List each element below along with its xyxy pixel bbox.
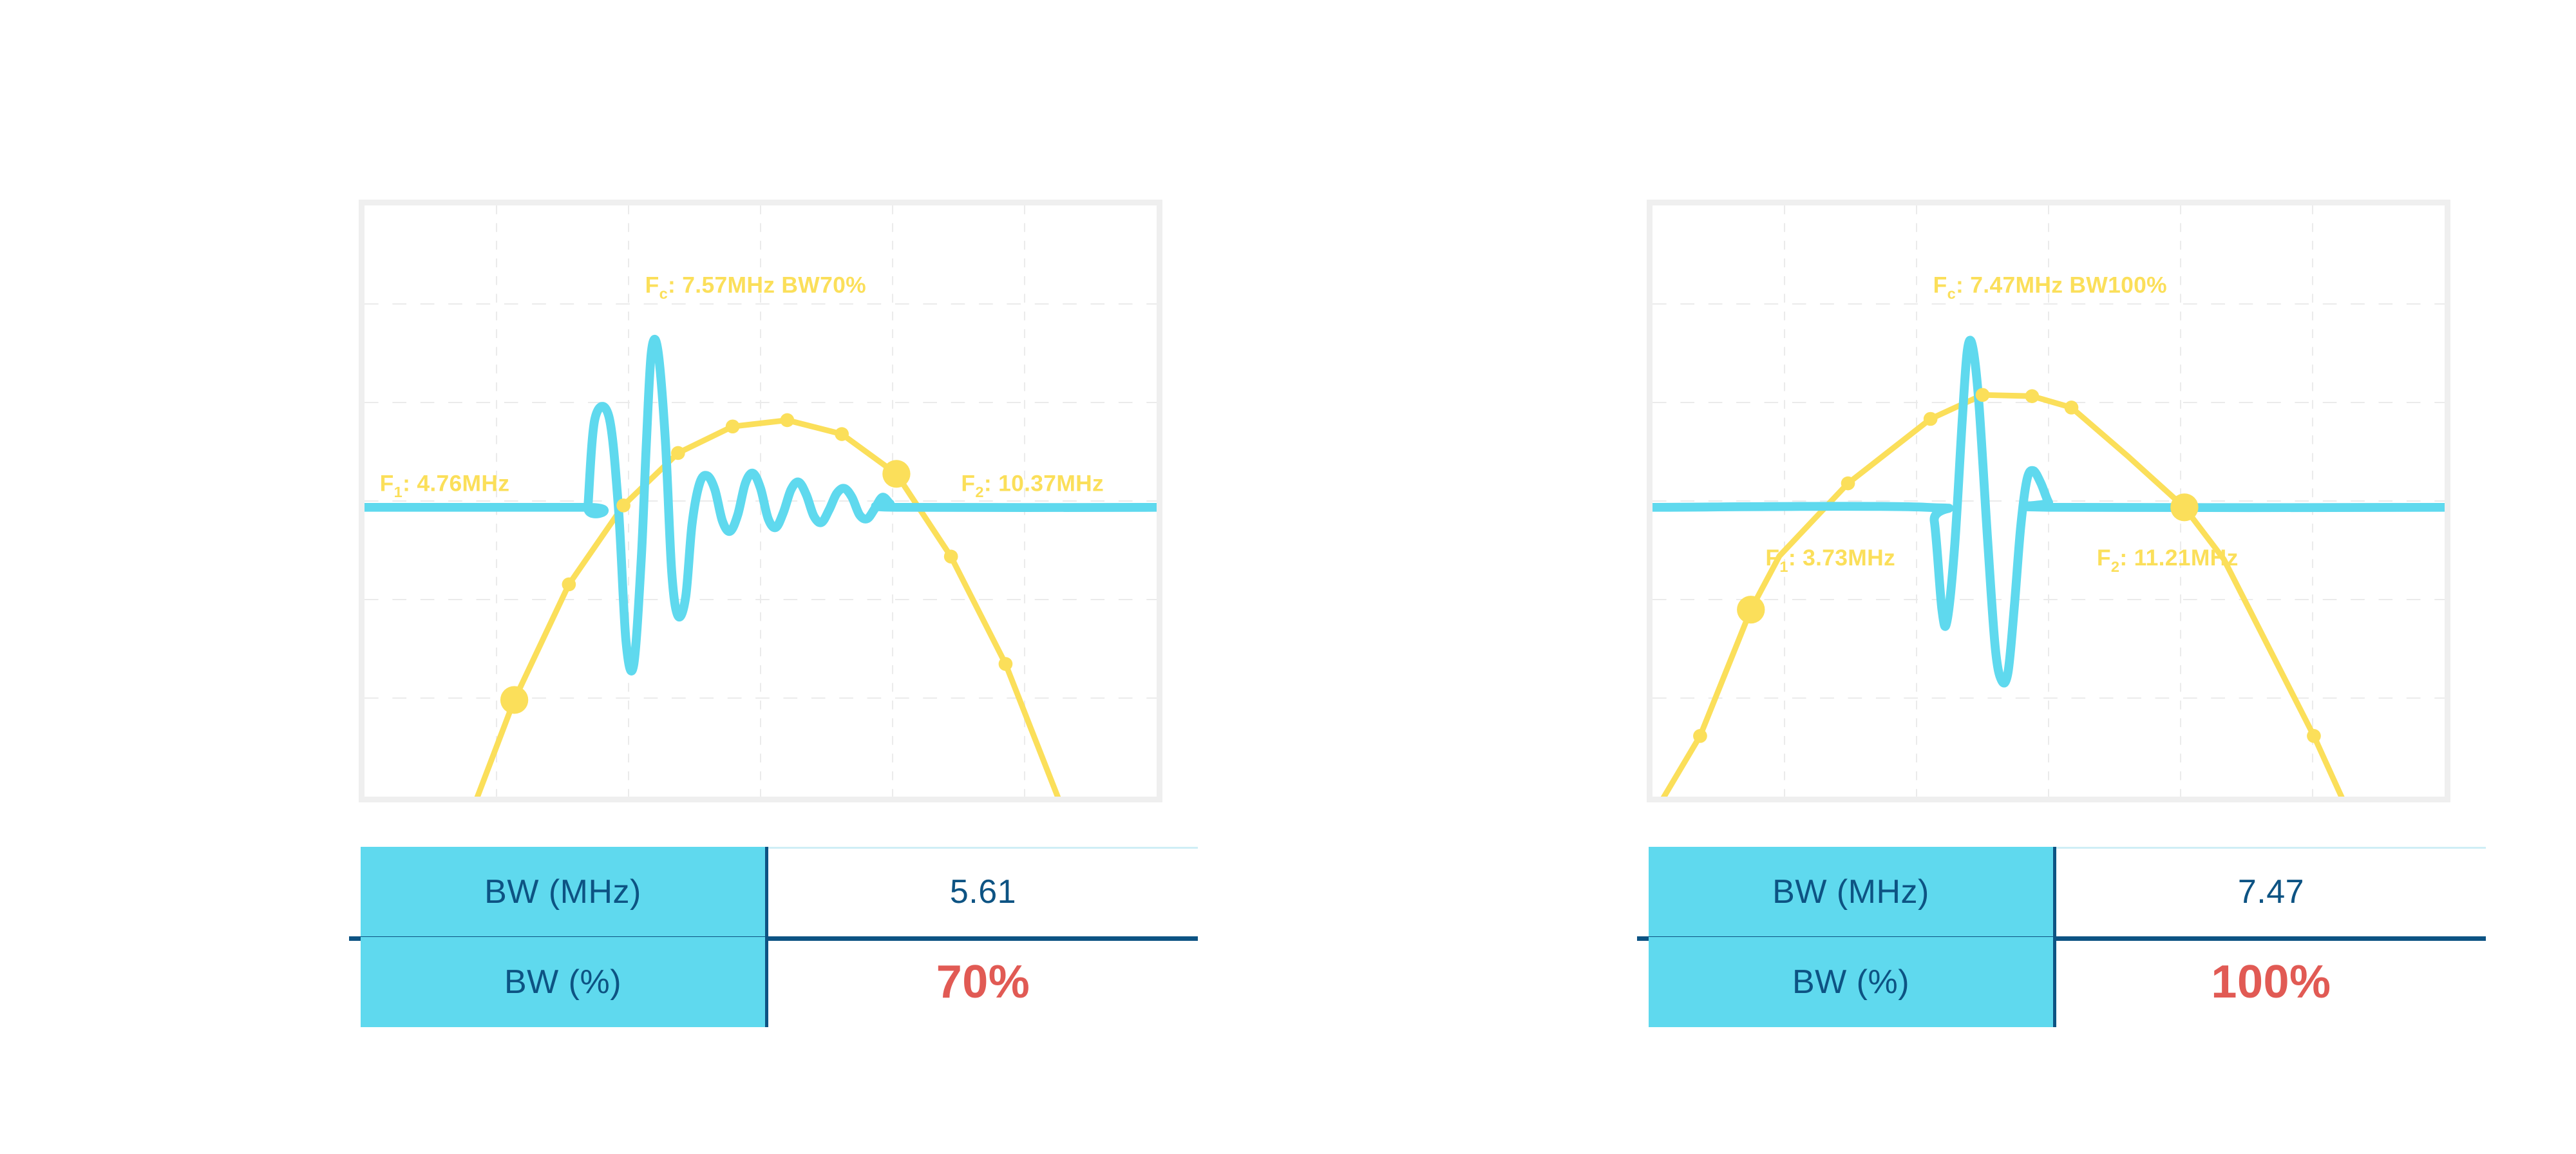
table-cell-label: BW (%) bbox=[1649, 937, 2056, 1027]
table-row: BW (MHz) 5.61 bbox=[361, 847, 1198, 937]
bw-pct-label: BW (%) bbox=[504, 963, 621, 1001]
bw-table-left: BW (MHz) 5.61 BW (%) 70% bbox=[361, 847, 1198, 1043]
table-cell-label: BW (%) bbox=[361, 937, 768, 1027]
bw-pct-value: 100% bbox=[2211, 956, 2331, 1008]
table-row: BW (MHz) 7.47 bbox=[1649, 847, 2486, 937]
annotations-left: Fc: 7.57MHz BW70% F1: 4.76MHz F2: 10.37M… bbox=[380, 272, 1104, 500]
f1-label: F1: 4.76MHz bbox=[380, 471, 510, 500]
table-cell-value: 70% bbox=[768, 937, 1198, 1027]
f2-label: F2: 11.21MHz bbox=[2097, 545, 2239, 575]
table-cell-value: 100% bbox=[2056, 937, 2486, 1027]
bw-mhz-label: BW (MHz) bbox=[1772, 873, 1929, 911]
bw-pct-value: 70% bbox=[936, 956, 1030, 1008]
panel-left: Fc: 7.57MHz BW70% F1: 4.76MHz F2: 10.37M… bbox=[0, 0, 1288, 1154]
table-cell-value: 7.47 bbox=[2056, 847, 2486, 937]
bw-mhz-label: BW (MHz) bbox=[484, 873, 641, 911]
table-row: BW (%) 100% bbox=[1649, 937, 2486, 1027]
annotations-right: Fc: 7.47MHz BW100% F1: 3.73MHz F2: 11.21… bbox=[1765, 272, 2238, 574]
panel-right: Fc: 7.47MHz BW100% F1: 3.73MHz F2: 11.21… bbox=[1288, 0, 2576, 1154]
chart-left-svg: Fc: 7.57MHz BW70% F1: 4.76MHz F2: 10.37M… bbox=[365, 205, 1157, 797]
center-freq-label: Fc: 7.47MHz BW100% bbox=[1933, 272, 2167, 302]
table-cell-label: BW (MHz) bbox=[1649, 847, 2056, 937]
bw-table-right: BW (MHz) 7.47 BW (%) 100% bbox=[1649, 847, 2486, 1043]
f2-label: F2: 10.37MHz bbox=[961, 471, 1104, 500]
table-row: BW (%) 70% bbox=[361, 937, 1198, 1027]
visualization-root: Fc: 7.57MHz BW70% F1: 4.76MHz F2: 10.37M… bbox=[0, 0, 2576, 1154]
table-cell-label: BW (MHz) bbox=[361, 847, 768, 937]
bw-mhz-value: 5.61 bbox=[950, 873, 1016, 911]
chart-right-svg: Fc: 7.47MHz BW100% F1: 3.73MHz F2: 11.21… bbox=[1653, 205, 2445, 797]
chart-right: Fc: 7.47MHz BW100% F1: 3.73MHz F2: 11.21… bbox=[1647, 200, 2450, 802]
chart-left: Fc: 7.57MHz BW70% F1: 4.76MHz F2: 10.37M… bbox=[359, 200, 1162, 802]
bw-pct-label: BW (%) bbox=[1792, 963, 1909, 1001]
center-freq-label: Fc: 7.57MHz BW70% bbox=[645, 272, 866, 302]
bw-mhz-value: 7.47 bbox=[2238, 873, 2304, 911]
table-cell-value: 5.61 bbox=[768, 847, 1198, 937]
